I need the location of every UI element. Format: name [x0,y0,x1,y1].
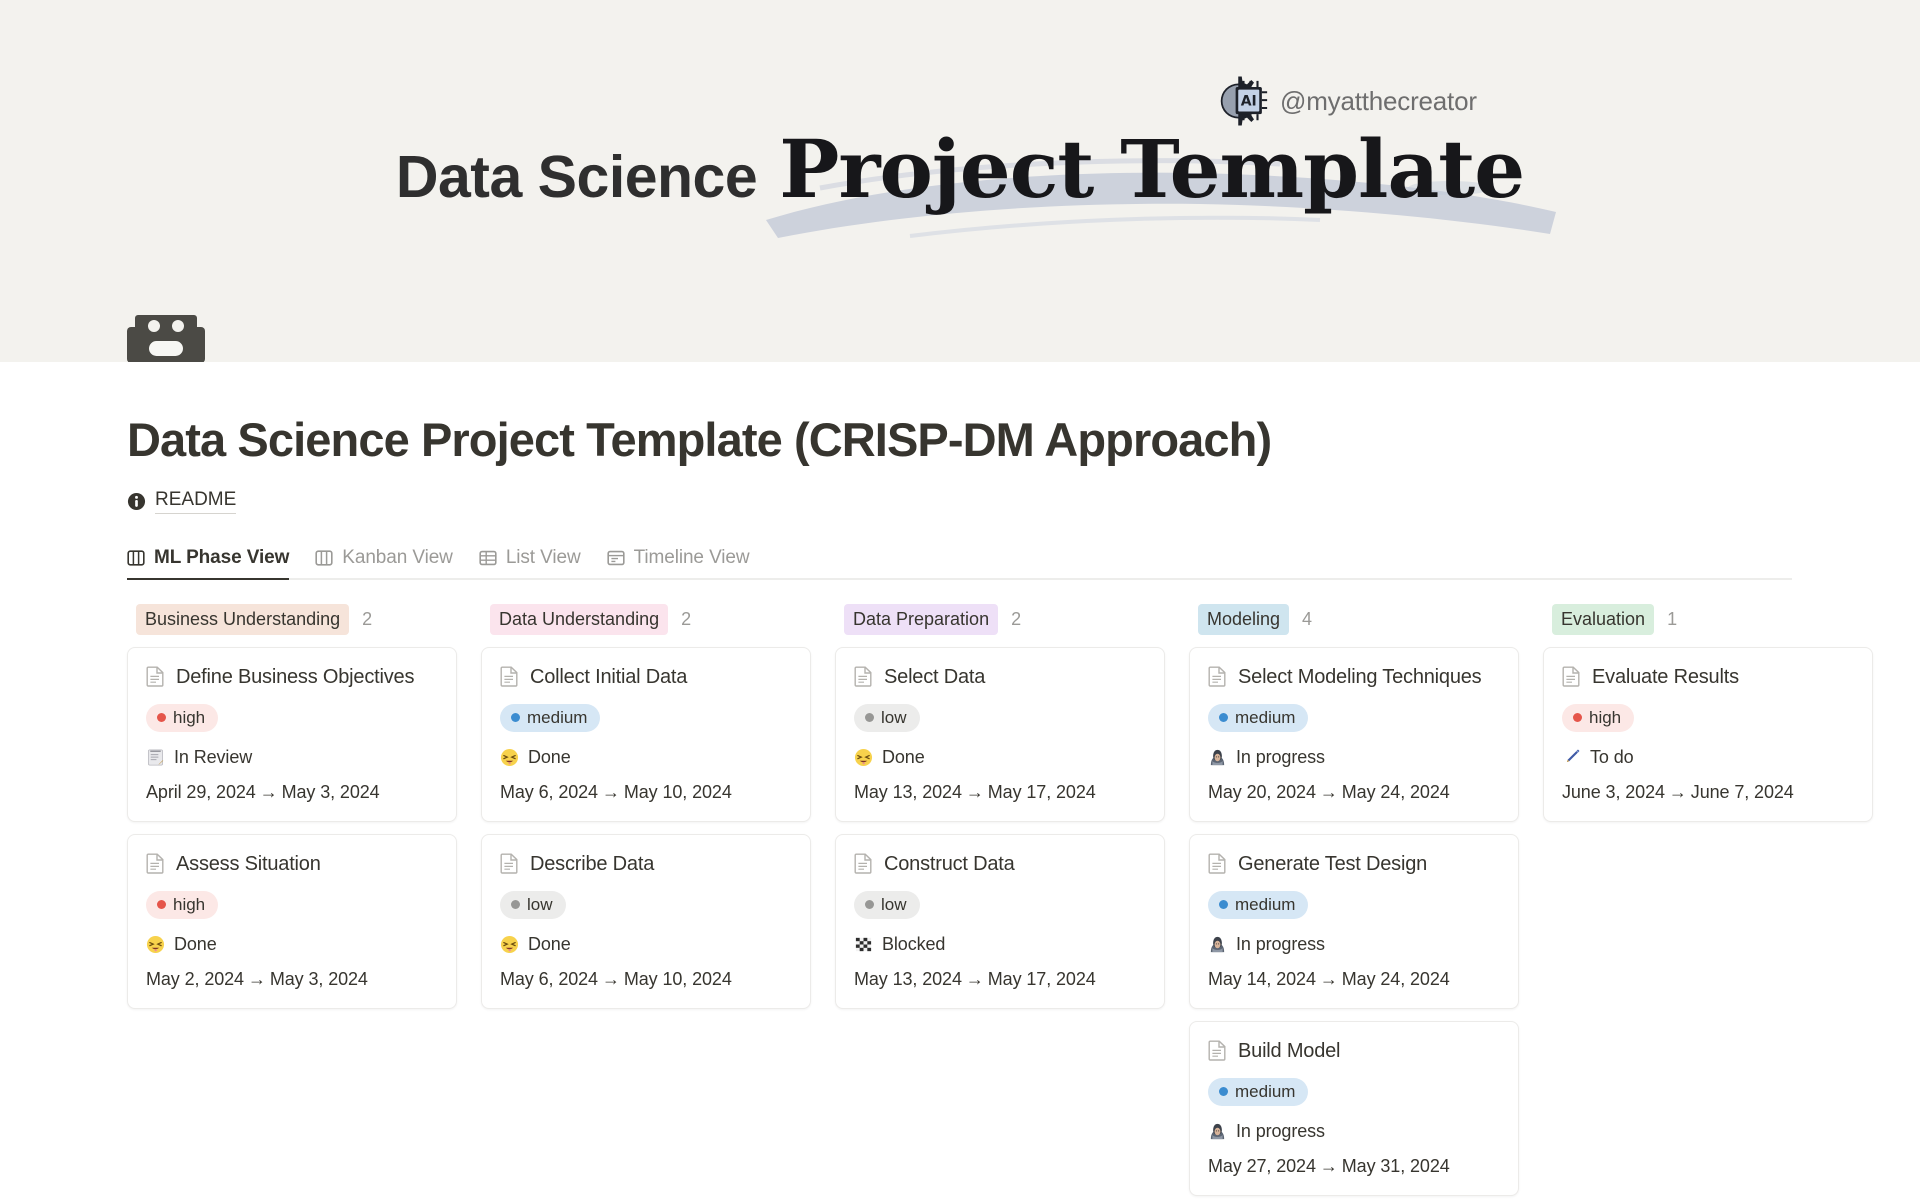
banner-artwork: AI @myatthecreator Data ScienceProject T… [0,0,1920,362]
memo-emoji-icon [146,748,165,767]
status-label: Done [528,934,571,955]
column-header[interactable]: Business Understanding 2 [127,606,457,634]
table-view-icon [479,549,497,567]
card-priority-pill: medium [1208,1078,1308,1106]
column-name-pill: Modeling [1198,604,1289,635]
readme-label: README [155,489,236,515]
column-card-count: 2 [1011,609,1021,630]
card-title-row: Describe Data [500,852,792,876]
card-priority-pill: high [146,704,218,732]
date-start: May 27, 2024 [1208,1156,1316,1176]
card-title: Select Modeling Techniques [1238,665,1481,689]
card-priority-pill: low [500,891,566,919]
date-start: May 6, 2024 [500,969,598,989]
tab-label: ML Phase View [154,547,289,569]
column-card-count: 2 [681,609,691,630]
status-label: In progress [1236,1121,1325,1142]
tab-ml-phase-view[interactable]: ML Phase View [127,547,289,580]
status-label: Done [528,747,571,768]
board-column-business-understanding: Business Understanding 2 Define Business… [127,606,457,1009]
date-end: May 3, 2024 [282,782,380,802]
priority-label: high [173,896,205,913]
column-cards: Evaluate Results high To do [1543,647,1873,822]
card-title: Assess Situation [176,852,321,876]
readme-link[interactable]: README [127,489,236,515]
date-arrow: → [598,782,624,802]
date-end: May 17, 2024 [988,782,1096,802]
column-cards: Select Modeling Techniques medium [1189,647,1519,1199]
card-priority-pill: medium [1208,891,1308,919]
card-priority-pill: high [1562,704,1634,732]
card-title: Build Model [1238,1039,1340,1063]
date-end: June 7, 2024 [1691,782,1794,802]
card-status: Done [500,934,792,955]
board-card[interactable]: Build Model medium [1189,1021,1519,1196]
document-icon [1562,666,1581,687]
card-title-row: Select Data [854,665,1146,689]
priority-label: medium [1235,709,1295,726]
person-emoji-icon [1208,748,1227,767]
status-label: To do [1590,747,1634,768]
priority-dot [865,900,874,909]
date-end: May 10, 2024 [624,782,732,802]
column-header[interactable]: Modeling 4 [1189,606,1519,634]
document-icon [854,666,873,687]
date-arrow: → [1316,782,1342,802]
priority-label: high [1589,709,1621,726]
creator-handle: @myatthecreator [1280,86,1477,117]
card-title-row: Select Modeling Techniques [1208,665,1500,689]
card-title-row: Construct Data [854,852,1146,876]
document-icon [1208,666,1227,687]
status-label: In progress [1236,747,1325,768]
timeline-view-icon [607,549,625,567]
priority-dot [157,713,166,722]
card-status: Done [500,747,792,768]
board-card[interactable]: Select Data low Do [835,647,1165,822]
date-arrow: → [256,782,282,802]
date-start: May 2, 2024 [146,969,244,989]
column-name-pill: Data Preparation [844,604,998,635]
card-status: In Review [146,747,438,768]
card-title-row: Collect Initial Data [500,665,792,689]
date-arrow: → [962,969,988,989]
date-start: May 13, 2024 [854,969,962,989]
card-priority-pill: medium [500,704,600,732]
card-date-range: May 14, 2024→May 24, 2024 [1208,969,1500,990]
priority-label: low [881,896,907,913]
priority-dot [1219,1087,1228,1096]
person-emoji-icon [1208,1122,1227,1141]
ai-chip-gear-logo-icon: AI [1212,73,1268,129]
tab-label: Kanban View [342,547,453,569]
card-status: In progress [1208,747,1500,768]
date-start: May 6, 2024 [500,782,598,802]
board-column-evaluation: Evaluation 1 Evaluate Results [1543,606,1873,822]
priority-dot [511,713,520,722]
date-arrow: → [962,782,988,802]
priority-dot [1219,900,1228,909]
priority-dot [865,713,874,722]
info-circle-icon [127,492,146,511]
date-arrow: → [598,969,624,989]
kanban-board: Business Understanding 2 Define Business… [127,606,1920,1199]
column-header[interactable]: Data Understanding 2 [481,606,811,634]
column-header[interactable]: Evaluation 1 [1543,606,1873,634]
view-tabs: ML Phase View Kanban View List View Time… [127,540,1920,578]
card-priority-pill: low [854,891,920,919]
tab-timeline-view[interactable]: Timeline View [607,547,750,580]
card-title-row: Assess Situation [146,852,438,876]
column-cards: Define Business Objectives high I [127,647,457,1009]
date-start: June 3, 2024 [1562,782,1665,802]
card-date-range: June 3, 2024→June 7, 2024 [1562,782,1854,803]
date-arrow: → [244,969,270,989]
card-title: Evaluate Results [1592,665,1739,689]
card-priority-pill: medium [1208,704,1308,732]
board-view-icon [127,549,145,567]
date-end: May 3, 2024 [270,969,368,989]
board-card[interactable]: Collect Initial Data medium [481,647,811,822]
card-status: Done [146,934,438,955]
squinting-tongue-face-emoji-icon [854,748,873,767]
card-status: Blocked [854,934,1146,955]
card-title: Define Business Objectives [176,665,414,689]
card-date-range: May 6, 2024→May 10, 2024 [500,782,792,803]
status-label: In Review [174,747,252,768]
date-start: May 14, 2024 [1208,969,1316,989]
card-title: Collect Initial Data [530,665,687,689]
tab-list-view[interactable]: List View [479,547,581,580]
person-emoji-icon [1208,935,1227,954]
card-date-range: May 2, 2024→May 3, 2024 [146,969,438,990]
date-arrow: → [1316,1156,1342,1176]
priority-label: high [173,709,205,726]
column-card-count: 4 [1302,609,1312,630]
status-label: In progress [1236,934,1325,955]
board-card[interactable]: Assess Situation high [127,834,457,1009]
status-label: Done [174,934,217,955]
card-title-row: Evaluate Results [1562,665,1854,689]
column-name-pill: Evaluation [1552,604,1654,635]
card-date-range: May 13, 2024→May 17, 2024 [854,969,1146,990]
svg-text:AI: AI [1241,93,1257,109]
page-title: Data Science Project Template (CRISP-DM … [127,414,1920,467]
document-icon [146,853,165,874]
board-card[interactable]: Construct Data low [835,834,1165,1009]
board-card[interactable]: Define Business Objectives high I [127,647,457,822]
column-cards: Collect Initial Data medium [481,647,811,1009]
card-priority-pill: low [854,704,920,732]
date-end: May 10, 2024 [624,969,732,989]
card-date-range: May 27, 2024→May 31, 2024 [1208,1156,1500,1177]
card-title: Generate Test Design [1238,852,1427,876]
status-label: Blocked [882,934,945,955]
card-title: Select Data [884,665,985,689]
card-title-row: Define Business Objectives [146,665,438,689]
column-card-count: 2 [362,609,372,630]
board-card[interactable]: Select Modeling Techniques medium [1189,647,1519,822]
robot-emoji-icon[interactable] [127,315,205,362]
card-date-range: April 29, 2024→May 3, 2024 [146,782,438,803]
priority-dot [1219,713,1228,722]
page-content: Data Science Project Template (CRISP-DM … [0,362,1920,1199]
pen-emoji-icon [1562,748,1581,767]
date-end: May 31, 2024 [1342,1156,1450,1176]
priority-label: low [881,709,907,726]
status-label: Done [882,747,925,768]
card-title-row: Build Model [1208,1039,1500,1063]
date-arrow: → [1665,782,1691,802]
priority-dot [1573,713,1582,722]
banner-title: Data ScienceProject Template [0,122,1920,216]
squinting-tongue-face-emoji-icon [146,935,165,954]
card-status: In progress [1208,934,1500,955]
board-view-icon [315,549,333,567]
card-date-range: May 6, 2024→May 10, 2024 [500,969,792,990]
board-column-data-understanding: Data Understanding 2 Collect Initial Dat… [481,606,811,1009]
column-header[interactable]: Data Preparation 2 [835,606,1165,634]
date-end: May 24, 2024 [1342,969,1450,989]
document-icon [146,666,165,687]
column-card-count: 1 [1667,609,1677,630]
date-start: May 20, 2024 [1208,782,1316,802]
board-column-modeling: Modeling 4 Select Modeling Techniques [1189,606,1519,1199]
date-start: May 13, 2024 [854,782,962,802]
priority-label: medium [1235,1083,1295,1100]
squinting-tongue-face-emoji-icon [500,748,519,767]
card-title: Construct Data [884,852,1015,876]
board-card[interactable]: Evaluate Results high To do [1543,647,1873,822]
date-end: May 17, 2024 [988,969,1096,989]
priority-label: medium [1235,896,1295,913]
card-date-range: May 13, 2024→May 17, 2024 [854,782,1146,803]
card-title-row: Generate Test Design [1208,852,1500,876]
priority-dot [157,900,166,909]
banner-title-light: Data Science [396,144,757,210]
card-title: Describe Data [530,852,654,876]
board-column-data-preparation: Data Preparation 2 Select Data [835,606,1165,1009]
priority-label: medium [527,709,587,726]
board-card[interactable]: Generate Test Design medium [1189,834,1519,1009]
card-status: To do [1562,747,1854,768]
document-icon [854,853,873,874]
document-icon [500,666,519,687]
document-icon [1208,853,1227,874]
squinting-tongue-face-emoji-icon [500,935,519,954]
card-status: In progress [1208,1121,1500,1142]
column-name-pill: Business Understanding [136,604,349,635]
date-arrow: → [1316,969,1342,989]
card-status: Done [854,747,1146,768]
chequered-flag-emoji-icon [854,935,873,954]
tab-label: List View [506,547,581,569]
date-start: April 29, 2024 [146,782,256,802]
priority-label: low [527,896,553,913]
card-date-range: May 20, 2024→May 24, 2024 [1208,782,1500,803]
card-priority-pill: high [146,891,218,919]
column-name-pill: Data Understanding [490,604,668,635]
priority-dot [511,900,520,909]
column-cards: Select Data low Do [835,647,1165,1009]
banner-title-heavy: Project Template [779,122,1524,216]
document-icon [1208,1040,1227,1061]
creator-credit: AI @myatthecreator [1212,73,1477,129]
tab-label: Timeline View [634,547,750,569]
page-cover-banner: AI @myatthecreator Data ScienceProject T… [0,0,1920,362]
tab-kanban-view[interactable]: Kanban View [315,547,453,580]
board-card[interactable]: Describe Data low [481,834,811,1009]
document-icon [500,853,519,874]
date-end: May 24, 2024 [1342,782,1450,802]
